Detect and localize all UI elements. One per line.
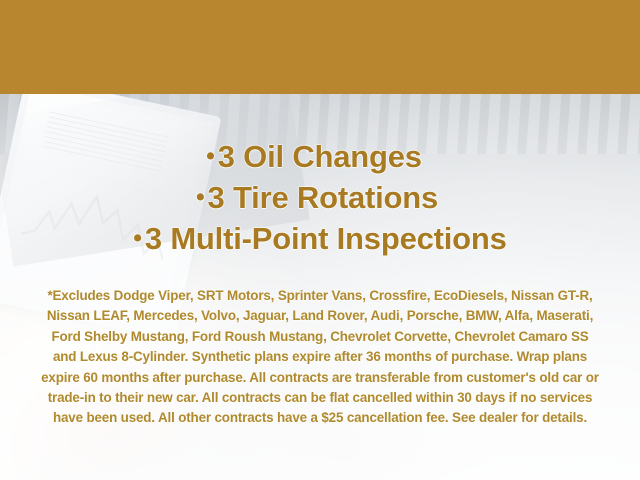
extracare-package-ad: ExtraCare Package* •3 Oil Changes •3 Tir…	[0, 0, 640, 480]
bullet-icon: •	[206, 142, 215, 170]
header-band	[0, 0, 640, 94]
benefits-list: •3 Oil Changes •3 Tire Rotations •3 Mult…	[0, 136, 640, 260]
benefit-item-label: 3 Oil Changes	[218, 139, 422, 174]
bullet-icon: •	[196, 183, 205, 211]
benefit-item-tire-rotations: •3 Tire Rotations	[0, 177, 640, 218]
benefit-item-multi-point-inspections: •3 Multi-Point Inspections	[0, 218, 640, 259]
benefit-item-label: 3 Multi-Point Inspections	[145, 221, 507, 256]
bullet-icon: •	[133, 224, 142, 252]
benefit-item-oil-changes: •3 Oil Changes	[0, 136, 640, 177]
disclaimer-text: *Excludes Dodge Viper, SRT Motors, Sprin…	[40, 286, 600, 429]
benefit-item-label: 3 Tire Rotations	[208, 180, 439, 215]
